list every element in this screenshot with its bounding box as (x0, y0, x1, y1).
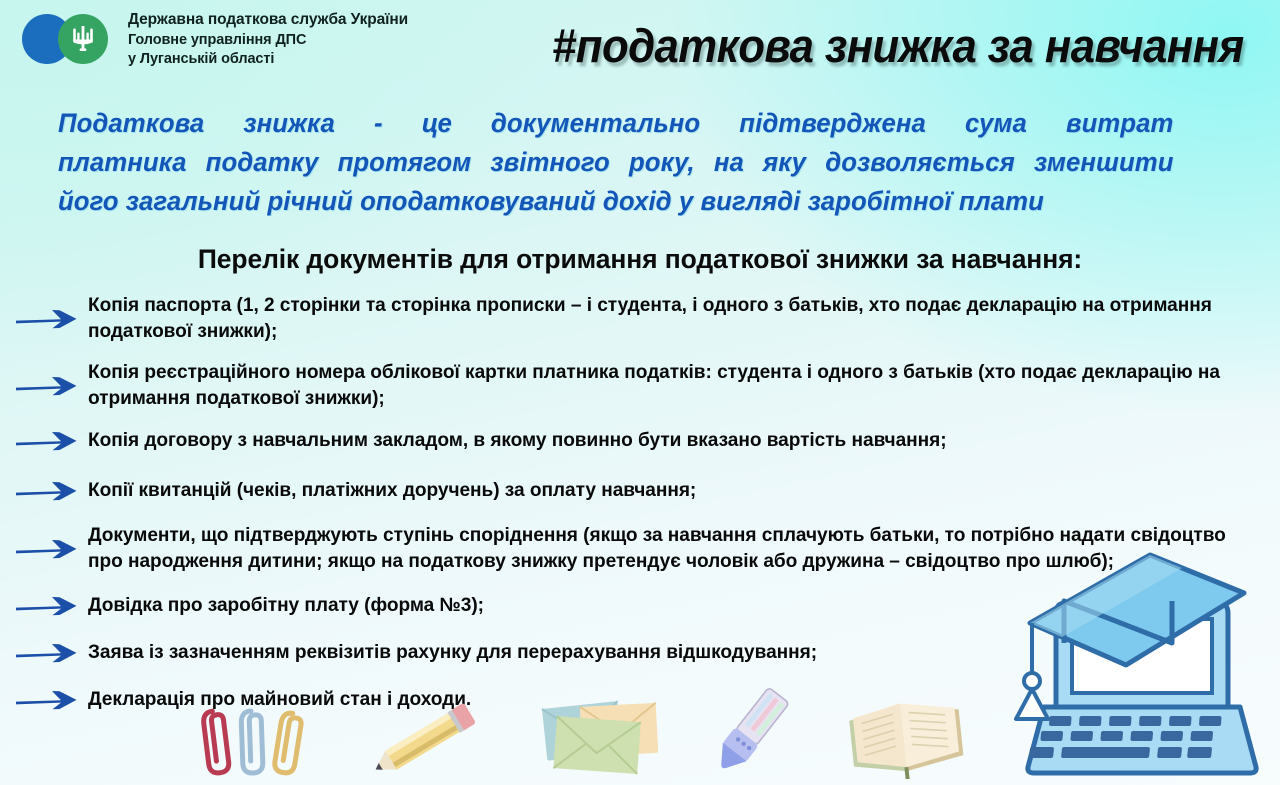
arrow-right-icon (14, 640, 82, 666)
list-item-label: Копія договору з навчальним закладом, в … (88, 428, 947, 454)
list-item: Копія паспорта (1, 2 сторінки та сторінк… (14, 293, 1270, 344)
list-item-label: Документи, що підтверджують ступінь спор… (88, 523, 1252, 574)
agency-name-block: Державна податкова служба України Головн… (128, 8, 408, 69)
list-item-label: Копія паспорта (1, 2 сторінки та сторінк… (88, 293, 1252, 344)
arrow-right-icon (14, 593, 82, 619)
tryzub-icon (71, 24, 95, 54)
arrow-right-icon (14, 687, 82, 713)
list-item-label: Заява із зазначенням реквізитів рахунку … (88, 640, 817, 666)
agency-line-1: Державна податкова служба України (128, 10, 408, 31)
green-circle-icon (58, 14, 108, 64)
infographic-poster: Державна податкова служба України Головн… (0, 0, 1280, 785)
documents-list: Копія паспорта (1, 2 сторінки та сторінк… (14, 293, 1270, 715)
list-item-label: Копія реєстраційного номера облікової ка… (88, 360, 1252, 411)
arrow-right-icon (14, 428, 82, 454)
list-item: Копії квитанцій (чеків, платіжних доруче… (14, 476, 1270, 506)
arrow-right-icon (14, 478, 82, 504)
definition-paragraph: Податкова знижка - це документально підт… (58, 104, 1174, 221)
list-item: Довідка про заробітну плату (форма №3); (14, 591, 1270, 621)
agency-header: Державна податкова служба України Головн… (22, 8, 408, 70)
list-item-label: Декларація про майновий стан і доходи. (88, 687, 471, 713)
list-item-label: Копії квитанцій (чеків, платіжних доруче… (88, 478, 696, 504)
list-item-label: Довідка про заробітну плату (форма №3); (88, 593, 484, 619)
list-item: Декларація про майновий стан і доходи. (14, 685, 1270, 715)
arrow-right-icon (14, 373, 82, 399)
list-item: Копія реєстраційного номера облікової ка… (14, 360, 1270, 411)
definition-line-2: платника податку протягом звітного року,… (58, 143, 1174, 182)
list-item: Заява із зазначенням реквізитів рахунку … (14, 638, 1270, 668)
list-item: Копія договору з навчальним закладом, в … (14, 426, 1270, 456)
agency-line-3: у Луганській області (128, 50, 408, 69)
agency-line-2: Головне управління ДПС (128, 31, 408, 50)
arrow-right-icon (14, 306, 82, 332)
definition-line-3: його загальний річний оподатковуваний до… (58, 182, 1174, 221)
arrow-right-icon (14, 536, 82, 562)
poster-title: #податкова знижка за навчання (552, 18, 1244, 73)
agency-logo (22, 8, 118, 70)
documents-heading: Перелік документів для отримання податко… (13, 244, 1267, 275)
definition-line-1: Податкова знижка - це документально підт… (58, 104, 1174, 143)
list-item: Документи, що підтверджують ступінь спор… (14, 523, 1270, 574)
